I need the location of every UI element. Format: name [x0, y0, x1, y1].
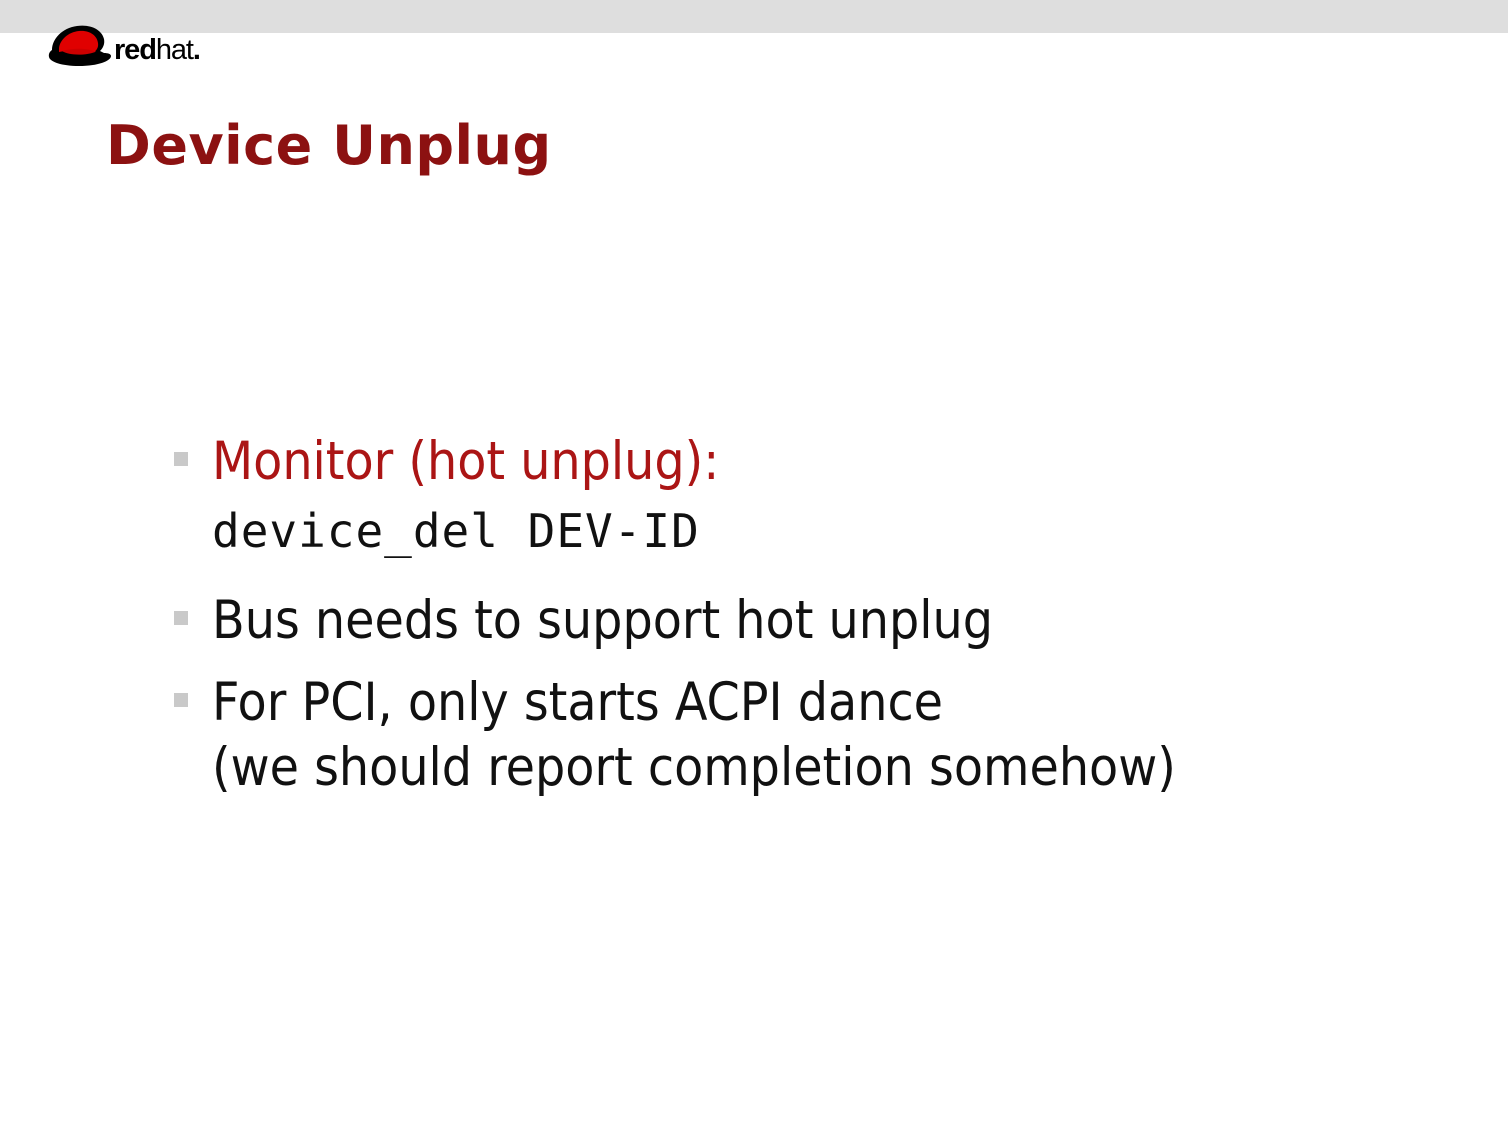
bullet-list: Monitor (hot unplug): device_del DEV-ID …: [170, 430, 1420, 801]
list-item: For PCI, only starts ACPI dance (we shou…: [170, 671, 1420, 800]
list-item: Monitor (hot unplug): device_del DEV-ID: [170, 430, 1420, 559]
bullet-square-icon: [174, 611, 188, 625]
bullet-text-pci-note: (we should report completion somehow): [212, 736, 1420, 801]
redhat-wordmark: redhat.: [114, 36, 200, 65]
bullet-text-monitor: Monitor (hot unplug):: [212, 430, 1420, 495]
bullet-square-icon: [174, 452, 188, 466]
bullet-square-icon: [174, 693, 188, 707]
list-item: Bus needs to support hot unplug: [170, 589, 1420, 654]
bullet-text-command: device_del DEV-ID: [212, 503, 1420, 559]
command-code: device_del DEV-ID: [212, 504, 700, 558]
wordmark-dot: .: [193, 34, 200, 66]
bullet-text-pci-acpi: For PCI, only starts ACPI dance: [212, 671, 1420, 736]
wordmark-hat: hat: [156, 34, 193, 66]
redhat-shadowman-icon: [46, 20, 118, 68]
wordmark-red: red: [114, 34, 156, 66]
redhat-logo: redhat.: [46, 18, 200, 68]
page-title: Device Unplug: [106, 118, 552, 175]
header-band: [0, 0, 1508, 33]
slide: redhat. Device Unplug Monitor (hot unplu…: [0, 0, 1508, 1131]
bullet-text-bus-support: Bus needs to support hot unplug: [212, 589, 1420, 654]
